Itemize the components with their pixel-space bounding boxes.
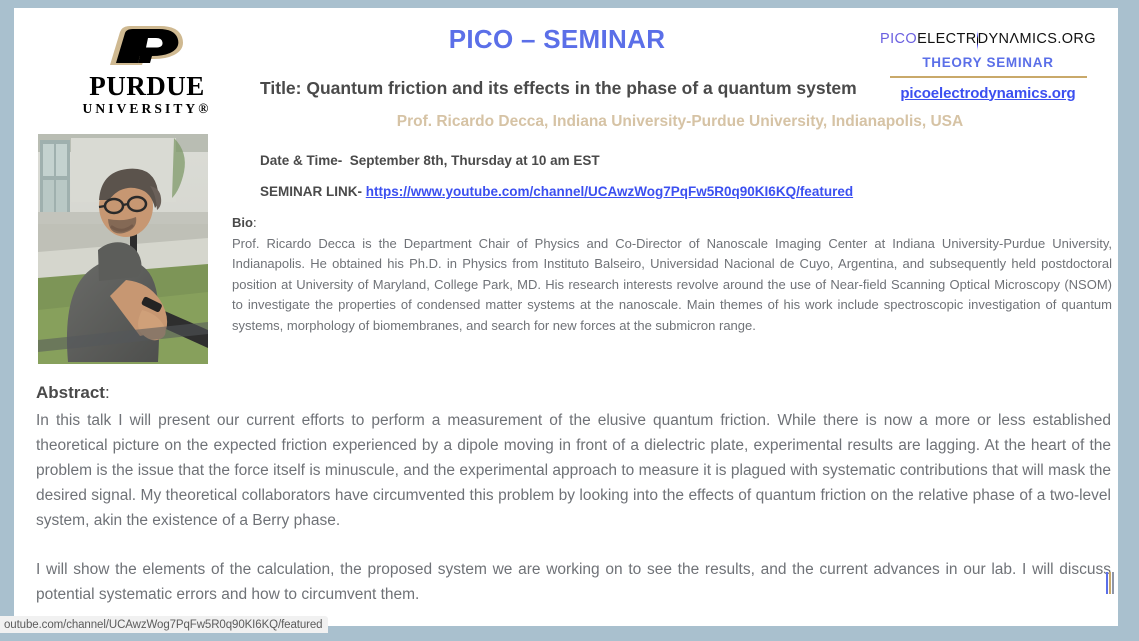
bio-label: Bio: [232, 213, 1112, 233]
bio-text: Prof. Ricardo Decca is the Department Ch… [232, 234, 1112, 337]
status-bar: outube.com/channel/UCAwzWog7PqFw5R0q90KI… [0, 616, 328, 633]
page-title: PICO – SEMINAR [382, 24, 732, 55]
seminar-link-label: SEMINAR LINK- [260, 184, 362, 199]
seminar-link-row: SEMINAR LINK- https://www.youtube.com/ch… [260, 184, 853, 199]
purdue-subtext: UNIVERSITY® [74, 101, 220, 118]
abstract-text: In this talk I will present our current … [36, 408, 1111, 608]
datetime-value: September 8th, Thursday at 10 am EST [350, 153, 600, 168]
scrollbar-artifact-segment [1106, 572, 1108, 594]
abstract-paragraph-2: I will show the elements of the calculat… [36, 557, 1111, 607]
picoelectrodynamics-wordmark: PICOELECTRDYNΛMICS.ORG [880, 28, 1096, 50]
purdue-logo: PURDUE UNIVERSITY® [74, 24, 220, 118]
scrollbar-artifact-segment [1112, 572, 1114, 594]
glowing-orb-icon [977, 30, 978, 51]
wordmark-pico: PICO [880, 32, 917, 47]
seminar-flyer-page: PURDUE UNIVERSITY® PICO – SEMINAR PICOEL… [14, 8, 1118, 626]
abstract-section: Abstract: In this talk I will present ou… [36, 381, 1111, 607]
talk-title: Title: Quantum friction and its effects … [260, 78, 1100, 99]
scrollbar-artifact[interactable] [1106, 572, 1116, 594]
talk-speaker: Prof. Ricardo Decca, Indiana University-… [260, 113, 1100, 131]
bio-section: Bio: Prof. Ricardo Decca is the Departme… [232, 213, 1112, 336]
abstract-paragraph-1: In this talk I will present our current … [36, 408, 1111, 534]
bio-label-colon: : [253, 215, 257, 230]
scrollbar-artifact-segment [1109, 572, 1111, 594]
talk-datetime: Date & Time- September 8th, Thursday at … [260, 153, 600, 168]
wordmark-dynamics: DYNΛMICS.ORG [978, 32, 1096, 47]
purdue-wordmark: PURDUE [74, 73, 220, 100]
bio-label-text: Bio [232, 215, 253, 230]
purdue-p-icon [104, 24, 190, 70]
abstract-label: Abstract: [36, 381, 1111, 406]
abstract-label-colon: : [105, 383, 110, 402]
seminar-link-url[interactable]: https://www.youtube.com/channel/UCAwzWog… [366, 184, 853, 199]
status-bar-url: outube.com/channel/UCAwzWog7PqFw5R0q90KI… [4, 619, 322, 631]
datetime-label: Date & Time- [260, 153, 342, 168]
abstract-label-text: Abstract [36, 383, 105, 402]
theory-seminar-label: THEORY SEMINAR [880, 55, 1096, 70]
wordmark-electr: ELECTR [917, 32, 977, 47]
speaker-photo [38, 134, 208, 364]
browser-viewport: PURDUE UNIVERSITY® PICO – SEMINAR PICOEL… [0, 0, 1139, 641]
